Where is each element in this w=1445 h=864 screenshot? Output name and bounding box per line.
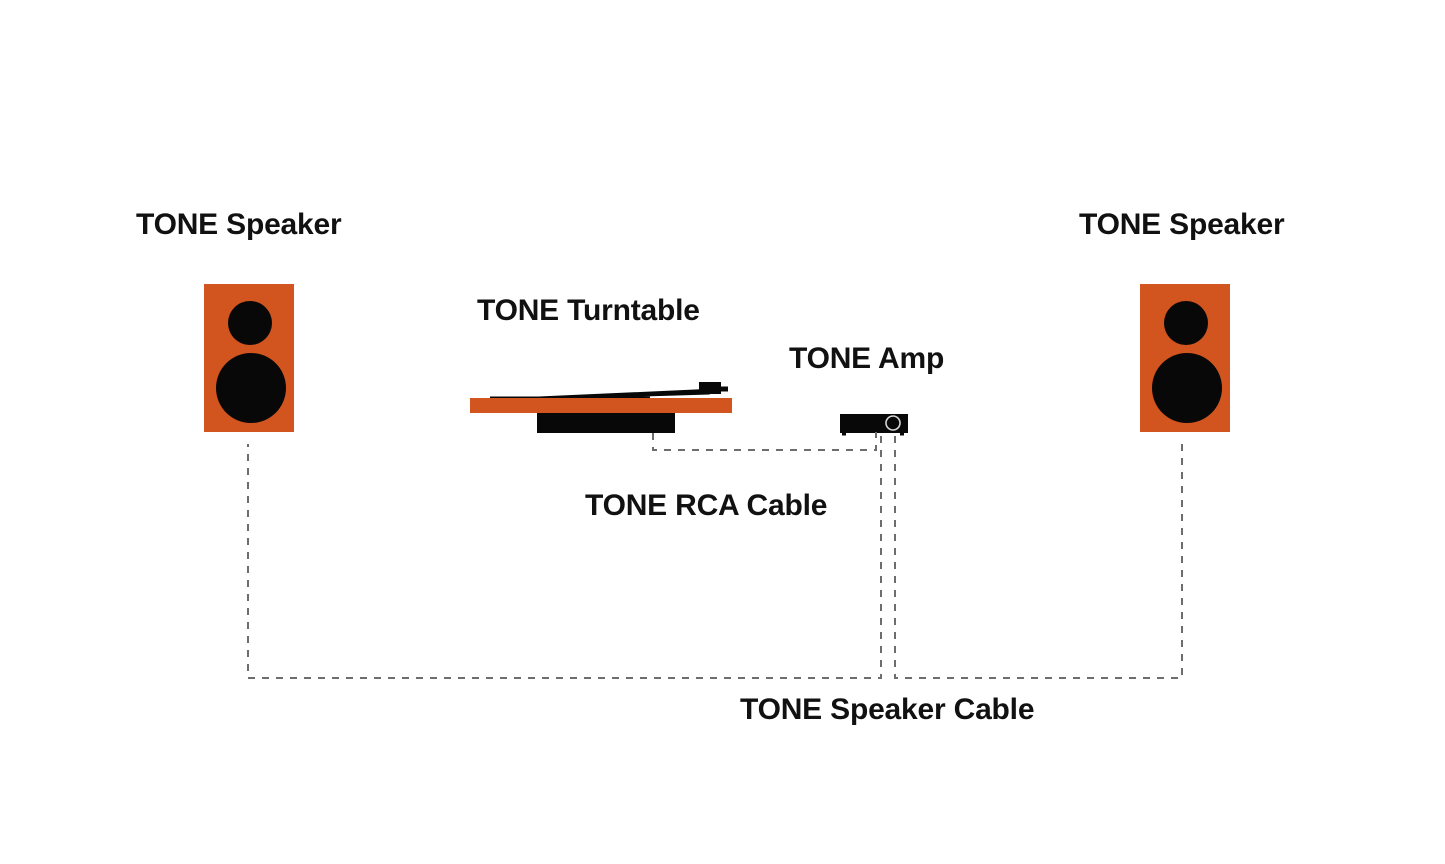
label-rca-cable: TONE RCA Cable bbox=[585, 491, 827, 521]
tweeter-icon bbox=[228, 301, 272, 345]
tonearm-headshell-icon bbox=[699, 382, 721, 394]
label-turntable: TONE Turntable bbox=[477, 296, 700, 326]
amp-foot-right-icon bbox=[900, 433, 904, 436]
speaker-cable-left-path bbox=[248, 436, 881, 678]
amp-foot-left-icon bbox=[842, 433, 846, 436]
turntable-icon bbox=[462, 380, 742, 438]
amp[interactable] bbox=[836, 410, 914, 440]
plinth-icon bbox=[470, 398, 732, 413]
tweeter-icon bbox=[1164, 301, 1208, 345]
label-speaker-left: TONE Speaker bbox=[136, 210, 341, 240]
diagram-canvas: TONE Speaker TONE Speaker TONE Turntable… bbox=[0, 0, 1445, 864]
label-speaker-cable: TONE Speaker Cable bbox=[740, 695, 1034, 725]
woofer-icon bbox=[216, 353, 286, 423]
woofer-icon bbox=[1152, 353, 1222, 423]
amp-chassis-icon bbox=[840, 414, 908, 433]
speaker-left[interactable] bbox=[204, 284, 294, 432]
amp-icon bbox=[836, 410, 914, 440]
turntable[interactable] bbox=[462, 380, 742, 438]
speaker-right[interactable] bbox=[1140, 284, 1230, 432]
spindle-icon bbox=[605, 394, 610, 398]
tonearm-tip-icon bbox=[718, 387, 728, 392]
speaker-cable-right-path bbox=[895, 436, 1182, 678]
turntable-base-icon bbox=[537, 413, 675, 433]
label-speaker-right: TONE Speaker bbox=[1079, 210, 1284, 240]
label-amp: TONE Amp bbox=[789, 344, 944, 374]
